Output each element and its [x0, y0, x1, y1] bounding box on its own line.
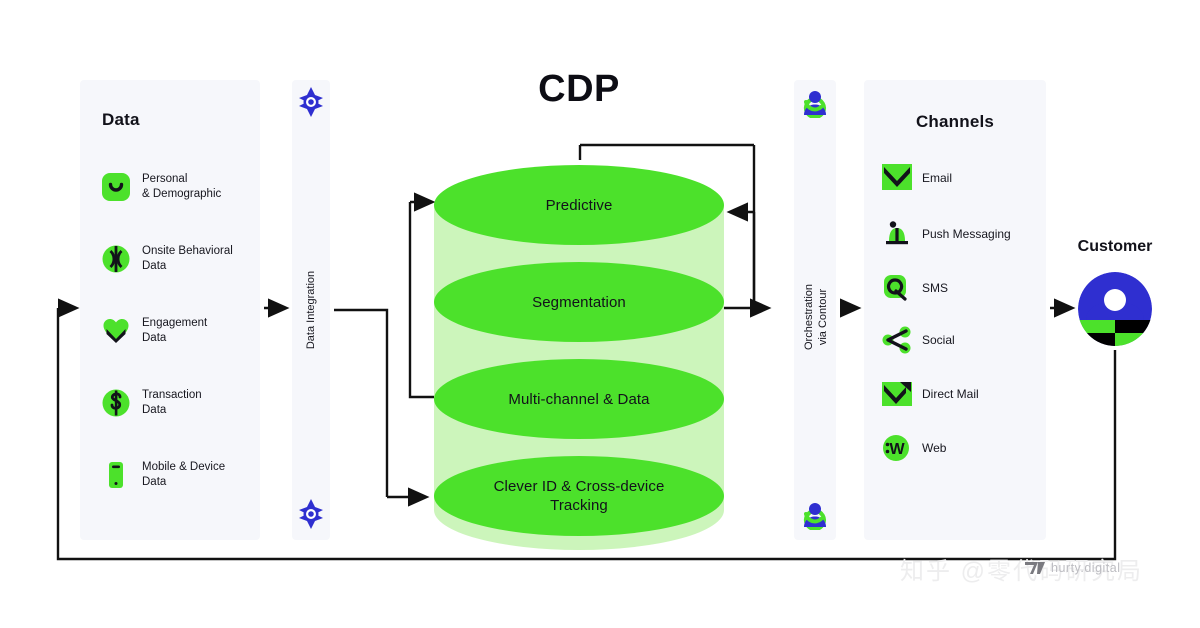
email-envelope-icon — [882, 164, 910, 192]
data-item-mobile[interactable]: Mobile & Device Data — [102, 460, 225, 490]
onsite-behavior-icon — [102, 245, 130, 273]
cylinder-layer-multichannel[interactable]: Multi-channel & Data — [434, 359, 724, 439]
channel-item-email[interactable]: Email — [882, 164, 952, 192]
cylinder-layer-predictive[interactable]: Predictive — [434, 165, 724, 245]
data-panel-title: Data — [80, 110, 282, 130]
person-orbit-icon — [799, 86, 831, 123]
person-orbit-icon — [799, 498, 831, 535]
multichannel-to-segmentation-trunk — [410, 202, 434, 397]
channel-item-label: Web — [922, 441, 946, 456]
data-item-label: Mobile & Device Data — [142, 460, 225, 490]
channel-item-label: Direct Mail — [922, 387, 979, 402]
data-item-label: Personal & Demographic — [142, 172, 221, 202]
push-bell-icon — [882, 220, 910, 248]
brand-logo: hurty.digital — [1024, 558, 1121, 578]
channel-item-web[interactable]: W Web — [882, 434, 946, 462]
channel-item-social[interactable]: Social — [882, 326, 955, 354]
direct-mail-icon — [882, 380, 910, 408]
segmentation-to-predictive-trunk — [722, 212, 754, 308]
channel-item-label: Email — [922, 171, 952, 186]
customer-avatar — [1078, 272, 1152, 346]
cylinder-layer-segmentation[interactable]: Segmentation — [434, 262, 724, 342]
cylinder-layer-label: Segmentation — [532, 293, 626, 312]
data-item-engagement[interactable]: Engagement Data — [102, 316, 207, 346]
customer-label: Customer — [1055, 238, 1175, 256]
data-item-label: Onsite Behavioral Data — [142, 244, 233, 274]
channels-panel: Channels Email Push Messaging — [864, 80, 1046, 540]
data-item-transaction[interactable]: Transaction Data — [102, 388, 202, 418]
orchestration-label: Orchestration via Contour — [802, 271, 830, 363]
arrow-to-orchestration — [754, 145, 768, 308]
cdp-title: CDP — [434, 68, 724, 111]
data-panel: Data Personal & Demographic Onsite Behav… — [80, 80, 260, 540]
social-share-icon — [882, 326, 910, 354]
brand-glyph-icon — [1024, 560, 1046, 576]
mobile-phone-icon — [102, 461, 130, 489]
cylinder-layer-label: Clever ID & Cross-device Tracking — [472, 477, 687, 515]
cylinder-layer-cleverid[interactable]: Clever ID & Cross-device Tracking — [434, 456, 724, 536]
cylinder-layer-label: Multi-channel & Data — [508, 390, 649, 409]
cdp-cylinder: Predictive Segmentation Multi-channel & … — [434, 165, 724, 550]
heart-icon — [102, 317, 130, 345]
sms-bubble-icon — [882, 274, 910, 302]
channel-item-direct-mail[interactable]: Direct Mail — [882, 380, 979, 408]
data-item-personal[interactable]: Personal & Demographic — [102, 172, 221, 202]
data-item-label: Engagement Data — [142, 316, 207, 346]
channel-item-label: Push Messaging — [922, 227, 1011, 242]
data-integration-label: Data Integration — [304, 265, 318, 355]
integration-branch-trunk — [334, 310, 387, 497]
channel-item-label: Social — [922, 333, 955, 348]
cylinder-layer-label: Predictive — [546, 196, 613, 215]
channel-item-label: SMS — [922, 281, 948, 296]
channel-item-push[interactable]: Push Messaging — [882, 220, 1011, 248]
svg-text:W: W — [889, 441, 905, 458]
brand-name: hurty.digital — [1051, 561, 1121, 575]
smile-square-icon — [102, 173, 130, 201]
channel-item-sms[interactable]: SMS — [882, 274, 948, 302]
dollar-circle-icon — [102, 389, 130, 417]
diagram-canvas: Data Personal & Demographic Onsite Behav… — [0, 0, 1200, 628]
web-globe-icon: W — [882, 434, 910, 462]
blue-star-node-icon — [295, 86, 327, 123]
data-item-onsite[interactable]: Onsite Behavioral Data — [102, 244, 233, 274]
data-item-label: Transaction Data — [142, 388, 202, 418]
blue-star-node-icon — [295, 498, 327, 535]
channels-panel-title: Channels — [864, 112, 1046, 132]
